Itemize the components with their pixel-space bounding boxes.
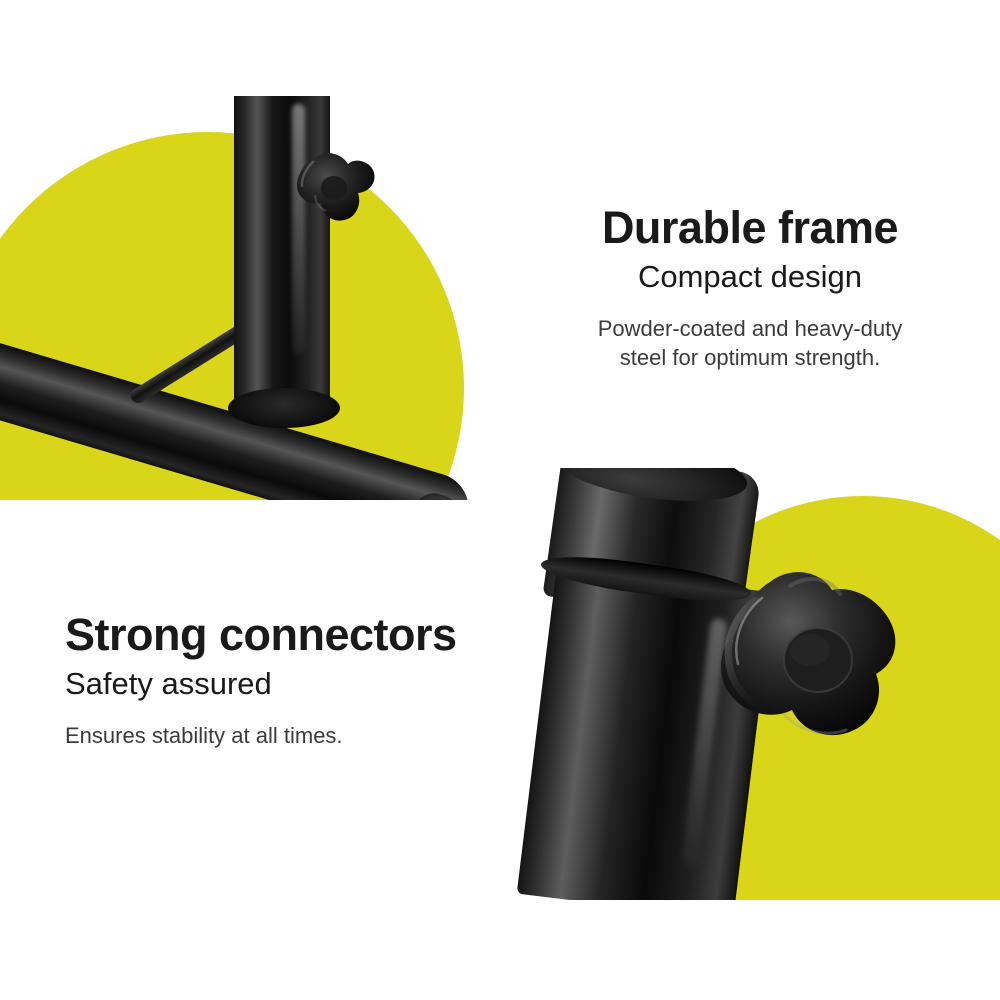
feature-block-durable-frame: Durable frame Compact design Powder-coat… <box>520 205 980 372</box>
feature-title-durable-frame: Durable frame <box>602 205 898 251</box>
frame-photo-panel <box>0 96 470 500</box>
feature-title-strong-connectors: Strong connectors <box>65 612 457 658</box>
knob-photo-panel <box>500 468 1000 900</box>
tri-lobe-knob-large <box>698 564 938 794</box>
feature-block-strong-connectors: Strong connectors Safety assured Ensures… <box>65 612 525 750</box>
feature-subtitle-strong-connectors: Safety assured <box>65 667 272 702</box>
weld-collar <box>228 388 340 428</box>
feature-description-strong-connectors: Ensures stability at all times. <box>65 721 343 750</box>
tri-lobe-knob-icon <box>698 564 938 794</box>
feature-subtitle-durable-frame: Compact design <box>638 260 862 295</box>
infographic-canvas: Durable frame Compact design Powder-coat… <box>0 0 1000 1000</box>
tri-lobe-knob-icon <box>288 148 380 244</box>
feature-description-durable-frame: Powder-coated and heavy-dutysteel for op… <box>598 314 903 372</box>
upright-tube <box>234 96 330 420</box>
tri-lobe-knob-small <box>288 148 380 244</box>
